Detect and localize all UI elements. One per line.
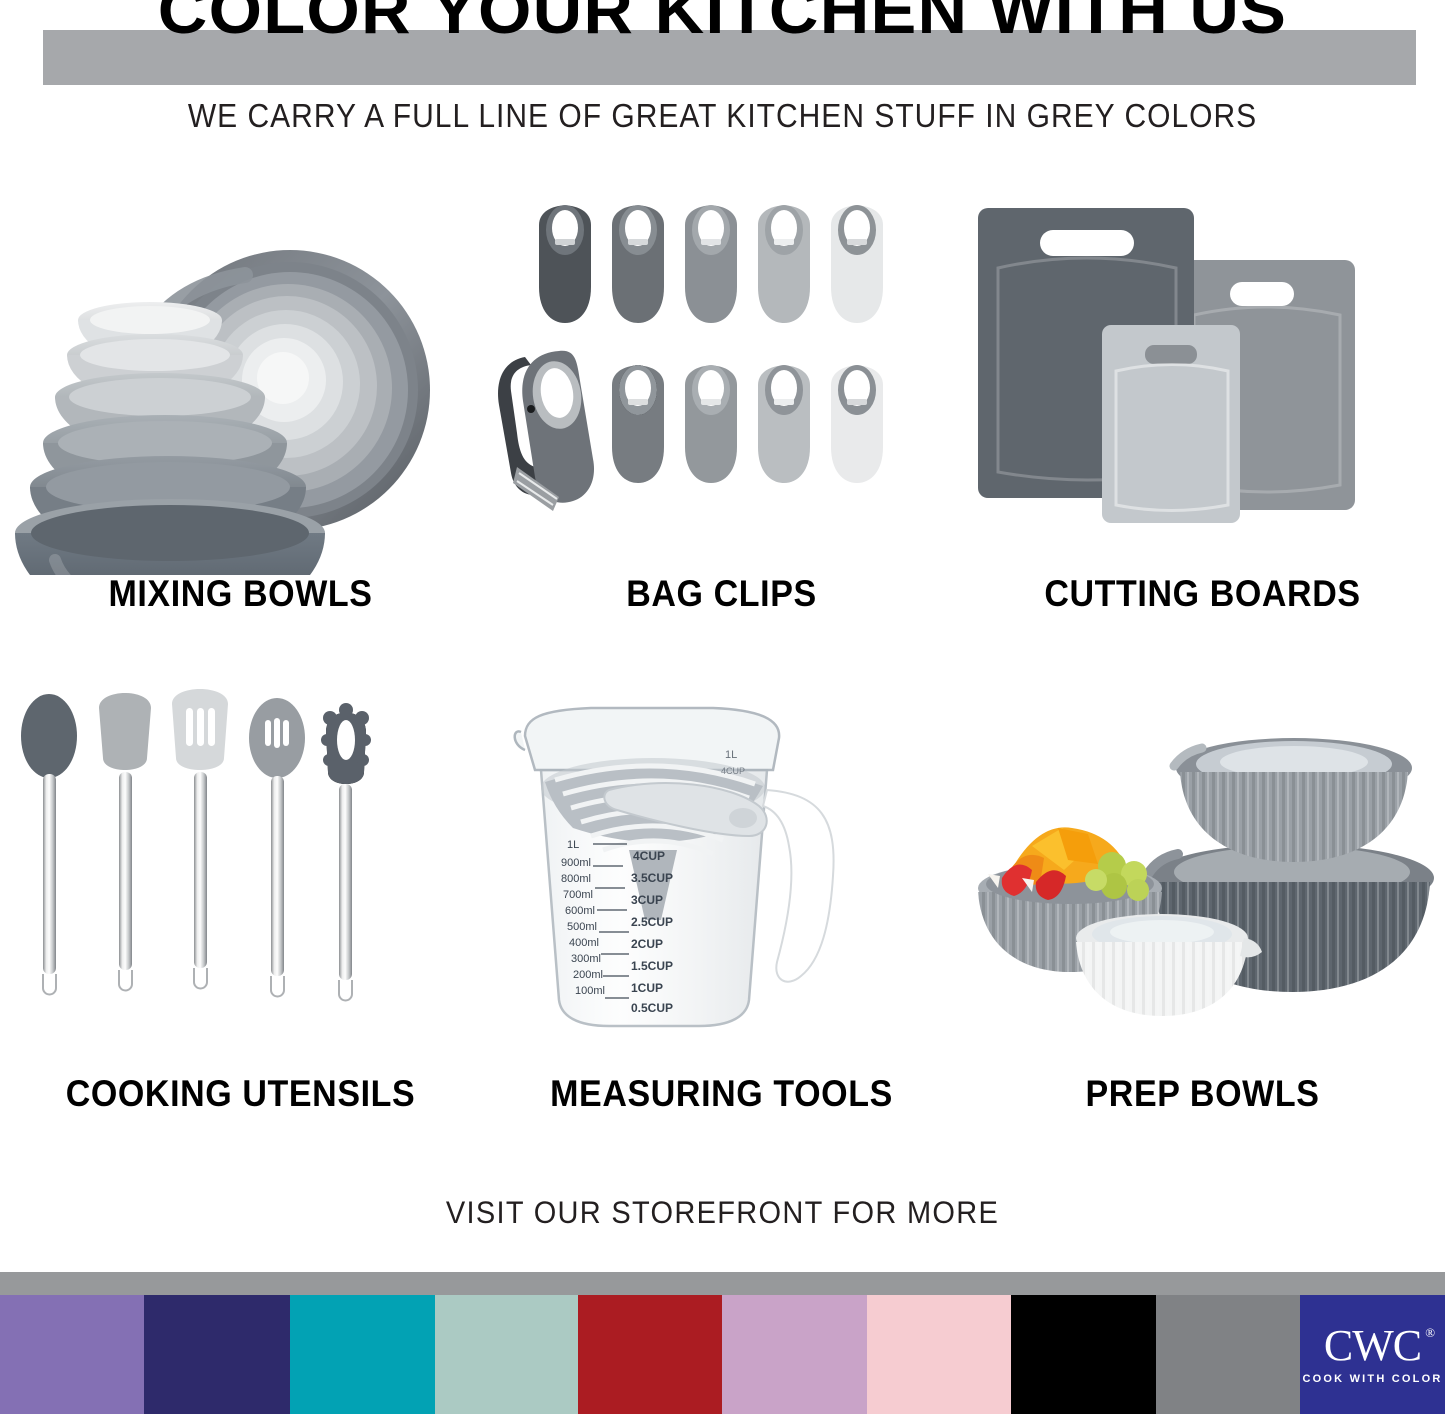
product-marketing-image: COLOR YOUR KITCHEN WITH US WE CARRY A FU… — [0, 0, 1445, 1414]
bag-clip-row-1 — [539, 205, 883, 323]
bag-clip — [685, 205, 737, 323]
prep-bowl-small — [1076, 914, 1262, 1016]
header-subtitle: WE CARRY A FULL LINE OF GREAT KITCHEN ST… — [0, 98, 1445, 136]
fruit — [986, 827, 1154, 904]
mixing-bowls-illustration — [0, 175, 481, 575]
cwc-logo-tagline: COOK WITH COLOR — [1303, 1373, 1443, 1385]
svg-text:600ml: 600ml — [565, 905, 595, 917]
bag-clip — [685, 365, 737, 483]
utensil-spatula — [99, 693, 151, 991]
prep-bowls-illustration — [962, 670, 1443, 1070]
color-swatch-purple — [0, 1295, 144, 1414]
storefront-callout[interactable]: VISIT OUR STOREFRONT FOR MORE — [0, 1195, 1445, 1231]
bag-clip-side-view — [498, 351, 594, 511]
bag-clip — [612, 365, 664, 483]
svg-text:3.5CUP: 3.5CUP — [631, 871, 673, 885]
mixing-bowls-svg — [0, 175, 481, 575]
bag-clip-row-2 — [612, 365, 883, 483]
bag-clip — [758, 365, 810, 483]
cutting-boards-svg — [962, 175, 1443, 575]
color-swatch-navy — [144, 1295, 290, 1414]
bag-clip — [612, 205, 664, 323]
color-swatch-teal — [290, 1295, 435, 1414]
product-cell-prep-bowls[interactable]: PREP BOWLS — [962, 670, 1443, 1140]
measuring-jug: 1L 900ml800ml 700ml600ml 500ml400ml 300m… — [515, 708, 834, 1026]
bag-clips-illustration — [481, 175, 962, 575]
cooking-utensils-svg — [0, 670, 481, 1070]
bag-clip — [539, 205, 591, 323]
color-swatch-row: CWC®COOK WITH COLOR — [0, 1295, 1445, 1414]
color-swatch-orchid — [722, 1295, 867, 1414]
product-label: MIXING BOWLS — [0, 573, 481, 615]
prep-bowls-svg — [962, 670, 1443, 1070]
svg-text:900ml: 900ml — [561, 857, 591, 869]
color-swatch-grey — [1156, 1295, 1300, 1414]
registered-trademark-icon: ® — [1425, 1326, 1434, 1339]
svg-text:0.5CUP: 0.5CUP — [631, 1001, 673, 1015]
product-cell-measuring-tools[interactable]: 1L 900ml800ml 700ml600ml 500ml400ml 300m… — [481, 670, 962, 1140]
svg-text:700ml: 700ml — [563, 889, 593, 901]
svg-text:400ml: 400ml — [569, 937, 599, 949]
svg-text:4CUP: 4CUP — [633, 849, 665, 863]
prep-bowl-medium — [1174, 738, 1412, 862]
product-grid: MIXING BOWLS — [0, 175, 1445, 1205]
footer-logo-panel: CWC®COOK WITH COLOR — [1300, 1295, 1445, 1414]
color-swatch-red — [578, 1295, 722, 1414]
bag-clip — [831, 365, 883, 483]
product-label: CUTTING BOARDS — [962, 573, 1443, 615]
product-label: BAG CLIPS — [481, 573, 962, 615]
svg-text:1CUP: 1CUP — [631, 981, 663, 995]
bag-clip — [758, 205, 810, 323]
page-title: COLOR YOUR KITCHEN WITH US — [0, 0, 1445, 48]
svg-text:2.5CUP: 2.5CUP — [631, 915, 673, 929]
svg-text:100ml: 100ml — [575, 985, 605, 997]
svg-text:800ml: 800ml — [561, 873, 591, 885]
svg-text:1.5CUP: 1.5CUP — [631, 959, 673, 973]
color-swatch-blush — [867, 1295, 1011, 1414]
measuring-tools-illustration: 1L 900ml800ml 700ml600ml 500ml400ml 300m… — [481, 670, 962, 1070]
utensil-slotted-turner — [172, 689, 228, 989]
product-cell-cutting-boards[interactable]: CUTTING BOARDS — [962, 175, 1443, 645]
cutting-board-small — [1102, 325, 1240, 523]
utensil-spoon — [21, 694, 77, 995]
utensil-pasta-server — [321, 703, 371, 1001]
cooking-utensils-illustration — [0, 670, 481, 1070]
measuring-tools-svg: 1L 900ml800ml 700ml600ml 500ml400ml 300m… — [481, 670, 962, 1070]
product-label: MEASURING TOOLS — [481, 1073, 962, 1115]
color-swatch-black — [1011, 1295, 1156, 1414]
svg-text:500ml: 500ml — [567, 921, 597, 933]
svg-text:3CUP: 3CUP — [631, 893, 663, 907]
svg-text:1L: 1L — [725, 749, 737, 761]
svg-text:200ml: 200ml — [573, 969, 603, 981]
color-swatch-sage — [435, 1295, 578, 1414]
svg-text:300ml: 300ml — [571, 953, 601, 965]
footer-grey-bar — [0, 1272, 1445, 1295]
product-label: COOKING UTENSILS — [0, 1073, 481, 1115]
svg-text:1L: 1L — [567, 839, 579, 851]
svg-text:4CUP: 4CUP — [721, 766, 745, 776]
bag-clip — [831, 205, 883, 323]
product-cell-mixing-bowls[interactable]: MIXING BOWLS — [0, 175, 481, 645]
product-cell-bag-clips[interactable]: BAG CLIPS — [481, 175, 962, 645]
svg-text:2CUP: 2CUP — [631, 937, 663, 951]
cwc-logo-mark: CWC® — [1324, 1324, 1421, 1368]
utensil-slotted-spoon — [249, 698, 305, 997]
cutting-boards-illustration — [962, 175, 1443, 575]
product-label: PREP BOWLS — [962, 1073, 1443, 1115]
product-cell-cooking-utensils[interactable]: COOKING UTENSILS — [0, 670, 481, 1140]
bag-clips-svg — [481, 175, 962, 575]
